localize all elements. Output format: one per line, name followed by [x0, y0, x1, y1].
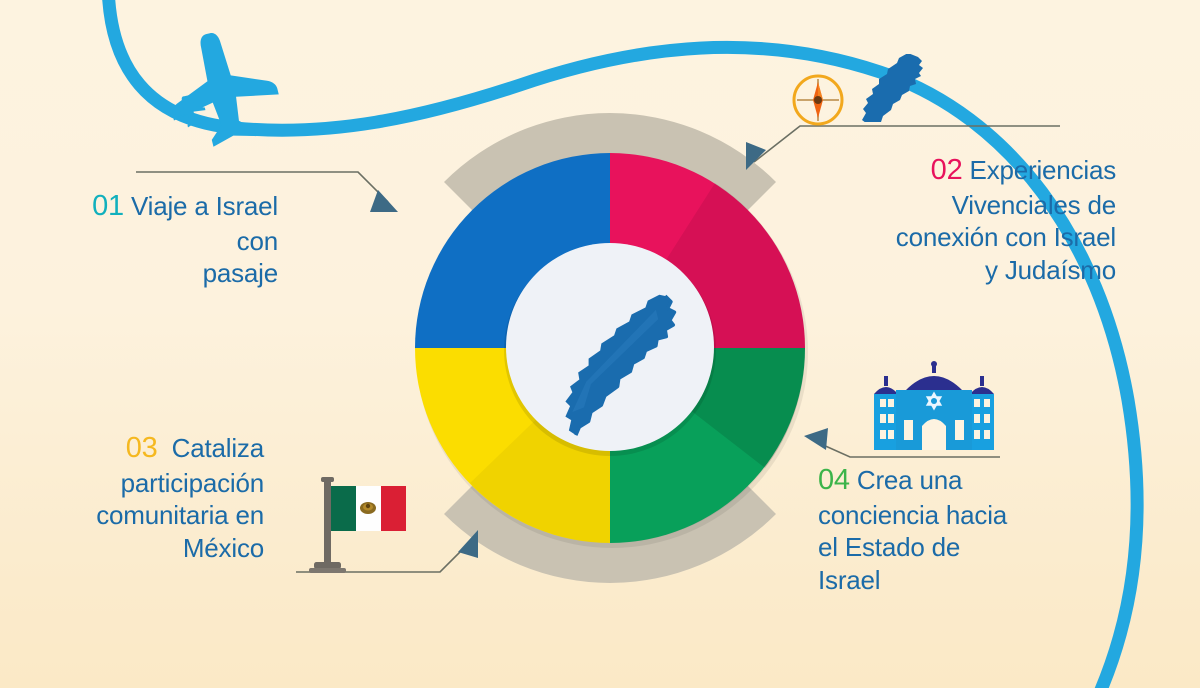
step-line-04-4: Israel — [818, 564, 1138, 597]
step-label-03: 03 Cataliza participación comunitaria en… — [6, 430, 264, 565]
step-line-02-2: Vivenciales de — [806, 189, 1116, 222]
mexico-flag-icon — [305, 468, 415, 578]
step-label-01: 01 Viaje a Israel con pasaje — [16, 188, 278, 290]
synagogue-icon — [866, 360, 1002, 452]
infographic-canvas: 01 Viaje a Israel con pasaje 02 Experien… — [0, 0, 1200, 688]
step-line-03-4: México — [6, 532, 264, 565]
israel-map-icon — [848, 54, 926, 122]
step-line-01-2: con — [16, 225, 278, 258]
step-line-01-1: Viaje a Israel — [131, 191, 278, 221]
step-label-04: 04 Crea una conciencia hacia el Estado d… — [818, 462, 1138, 597]
step-line-04-1: Crea una — [857, 465, 962, 495]
step-number-02: 02 — [931, 154, 963, 186]
step-line-03-3: comunitaria en — [6, 499, 264, 532]
step-number-04: 04 — [818, 464, 850, 496]
step-line-02-1: Experiencias — [970, 155, 1116, 185]
step-line-04-3: el Estado de — [818, 531, 1138, 564]
airplane-icon — [150, 24, 310, 154]
step-label-02: 02 Experiencias Vivenciales de conexión … — [806, 152, 1116, 287]
compass-icon — [790, 72, 846, 128]
step-line-03-1: Cataliza — [172, 433, 264, 463]
step-line-02-3: conexión con Israel — [806, 221, 1116, 254]
step-number-01: 01 — [92, 190, 124, 222]
step-line-03-2: participación — [6, 467, 264, 500]
donut-chart — [355, 93, 865, 603]
step-line-02-4: y Judaísmo — [806, 254, 1116, 287]
step-line-01-3: pasaje — [16, 257, 278, 290]
step-number-03: 03 — [126, 432, 158, 464]
step-line-04-2: conciencia hacia — [818, 499, 1138, 532]
